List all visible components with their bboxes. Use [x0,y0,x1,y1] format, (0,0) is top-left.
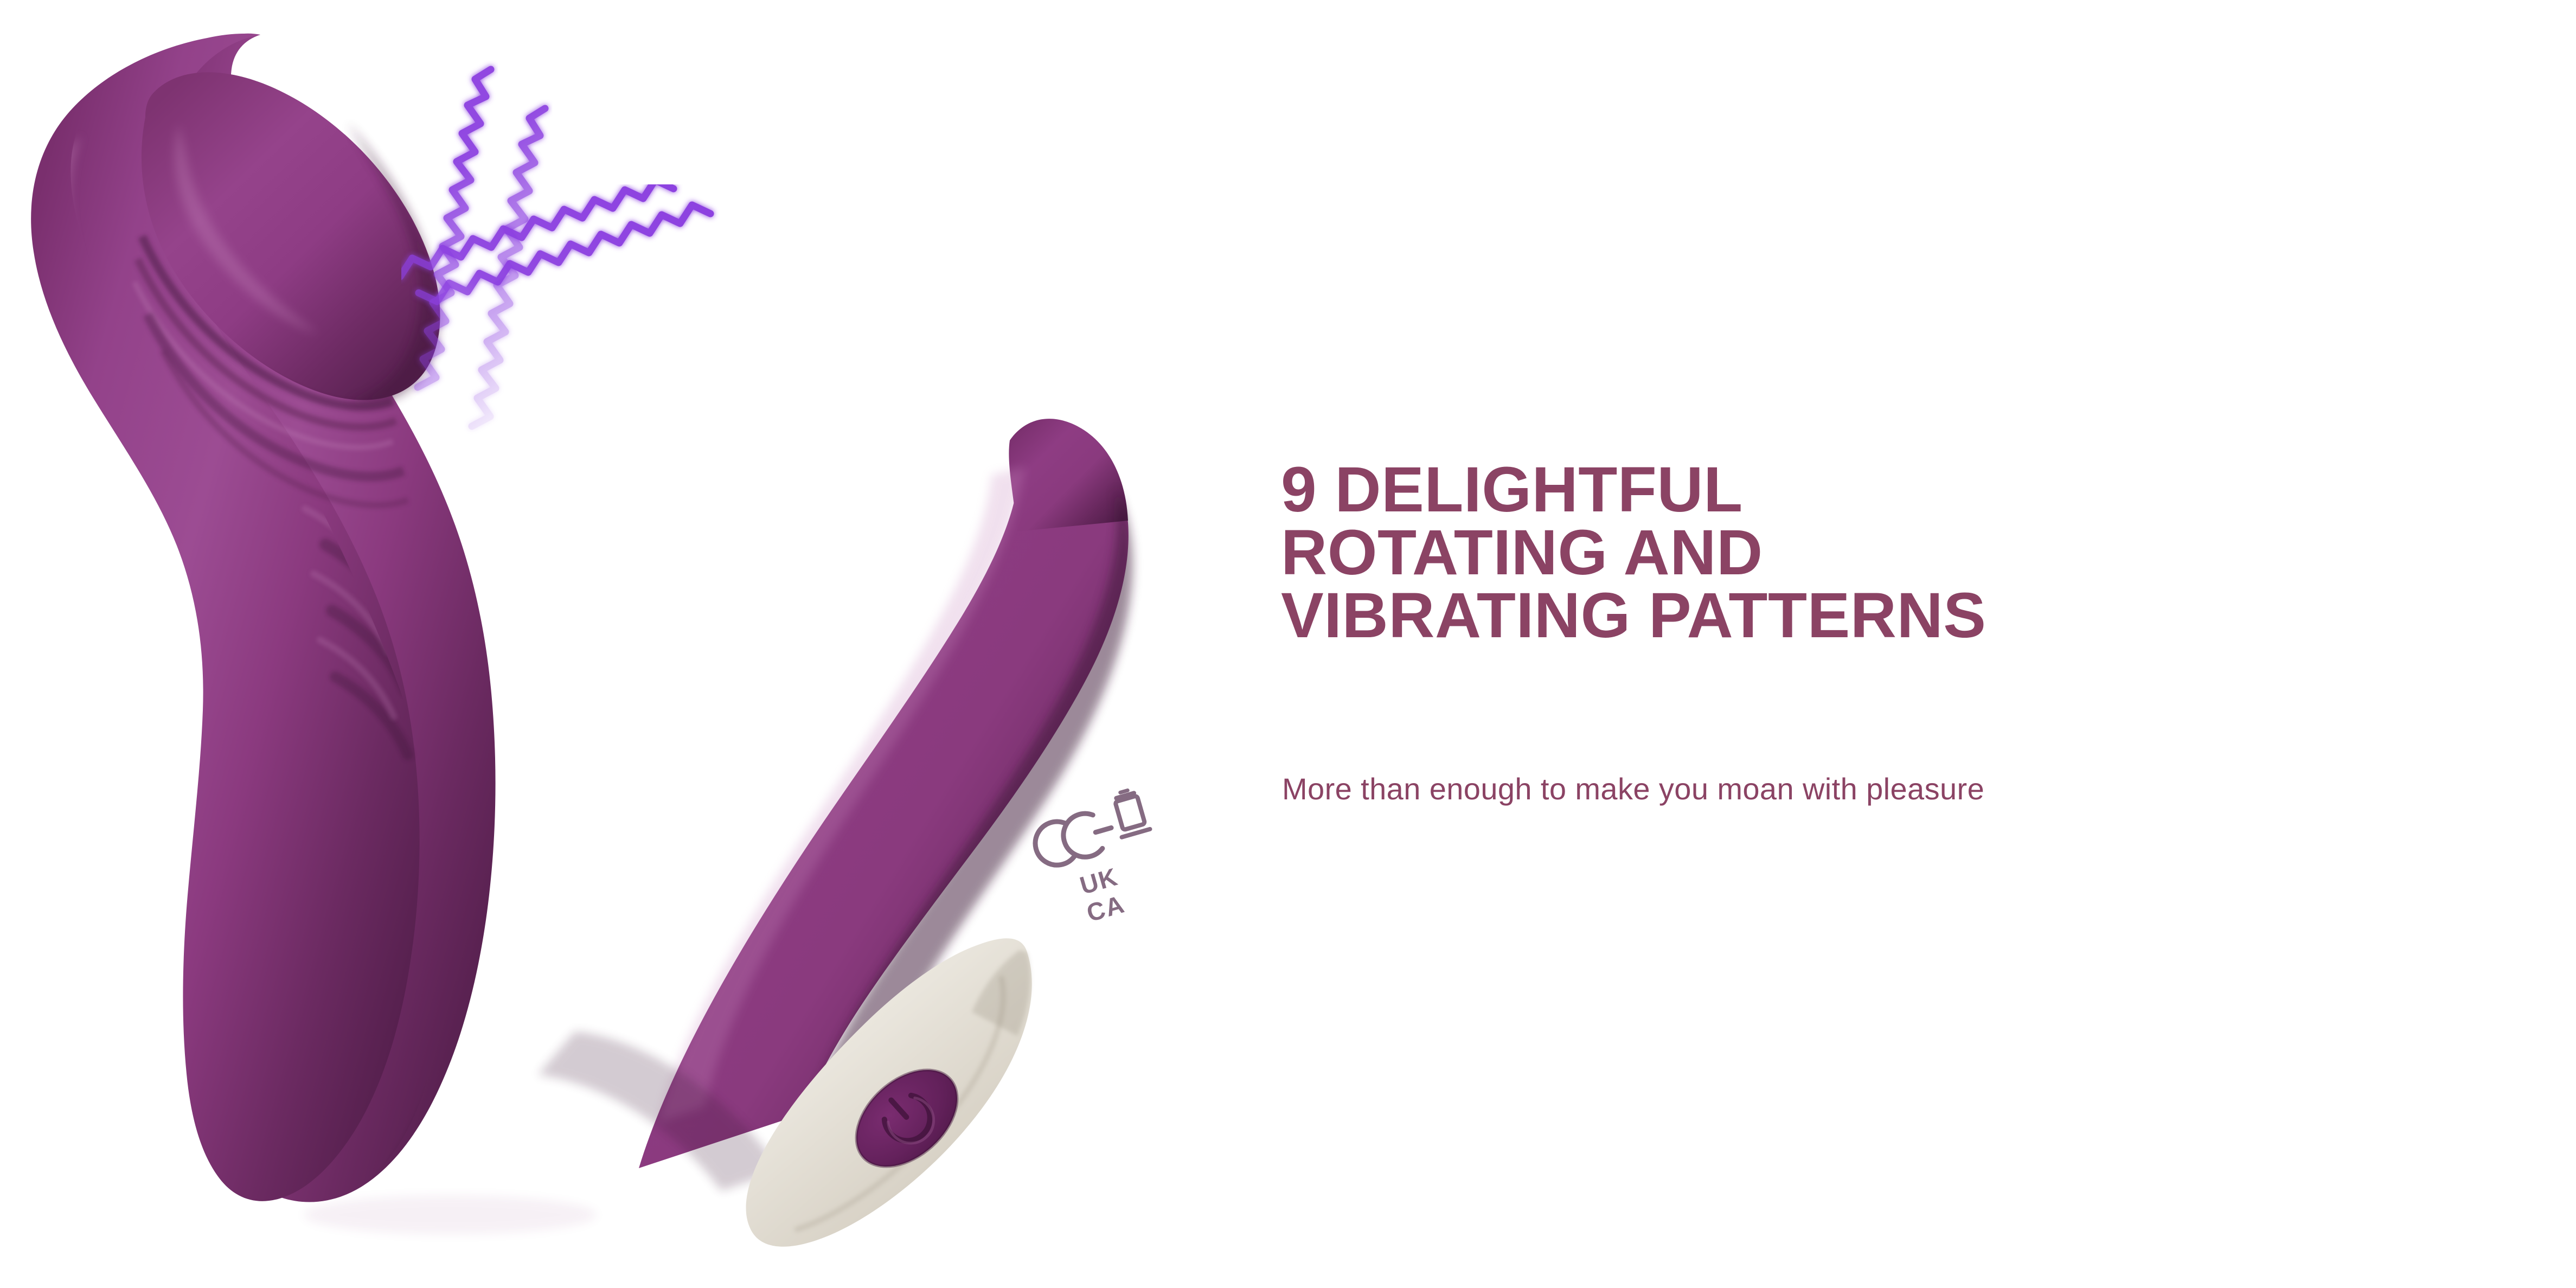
product-drop-shadow [304,1195,597,1234]
product-image-panel: UK CA [0,0,1247,1288]
product-feature-banner: UK CA 9 DELIGHTFUL ROTATING [0,0,2576,1288]
subtitle: More than enough to make you moan with p… [1282,770,1984,808]
text-content-panel: 9 DELIGHTFUL ROTATING AND VIBRATING PATT… [1281,0,2576,1288]
page-title: 9 DELIGHTFUL ROTATING AND VIBRATING PATT… [1281,458,1986,647]
headline-line-2: ROTATING AND [1281,521,1986,584]
product-illustration: UK CA [0,0,1247,1288]
compliance-markings: UK CA [1028,787,1172,936]
weee-bin-icon [1110,787,1150,837]
headline-line-3: VIBRATING PATTERNS [1281,584,1986,647]
headline-line-1: 9 DELIGHTFUL [1281,458,1986,521]
